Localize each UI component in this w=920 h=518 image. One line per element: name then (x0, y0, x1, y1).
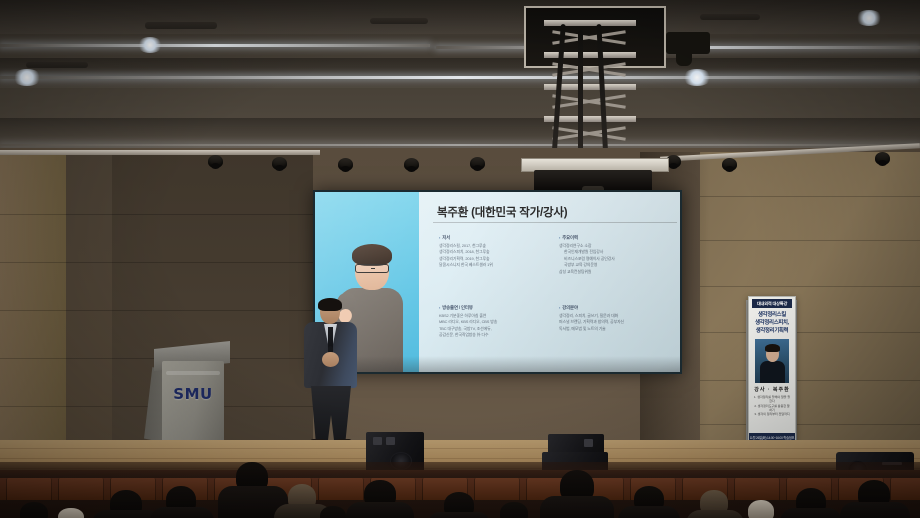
slide-section-media: 방송출연 / 인터뷰 KBS2 기분좋은 하루아침 출연 MBC 라디오, KB… (439, 304, 537, 339)
podium-logo: SMU (166, 385, 220, 403)
ceiling-light-glow (682, 69, 712, 86)
wall-column-left (0, 152, 66, 458)
spotlight (338, 158, 353, 171)
section-heading: 저서 (439, 234, 537, 241)
spotlight (470, 157, 485, 170)
section-body: 생각정리스킬, 2017, 천그루숲 생각정리스피치, 2018, 천그루숲 생… (439, 243, 537, 269)
audience-head (320, 506, 346, 518)
security-camera (875, 152, 890, 165)
audience-head (748, 500, 774, 518)
section-body: 생각정리, 스피치, 글쓰기, 질문과 대화 퍼스널 브랜딩, 기획력과 창의력… (559, 313, 657, 333)
spotlight (272, 157, 287, 170)
section-heading: 방송출연 / 인터뷰 (439, 304, 537, 311)
slide-title: 복주환 (대한민국 작가/강사) (437, 204, 675, 220)
seat (890, 478, 920, 500)
seat (58, 478, 104, 500)
audience-shoulders (840, 502, 910, 518)
spotlight (722, 158, 737, 171)
banner-speaker-photo (755, 339, 789, 383)
seat (474, 478, 520, 500)
audience-shoulders (618, 506, 680, 518)
seat (6, 478, 52, 500)
audience-shoulders (540, 496, 614, 518)
section-body: 생각정리연구소 소장 한국인재개발원 전임강사 비즈니스포럼 명예이사 공인강사… (559, 243, 657, 276)
event-x-banner: 대내외적 대상특강 생각정리스킬 생각정리스피치, 생각정리기획력 강사 · 복… (748, 296, 796, 456)
presenter (302, 300, 364, 452)
audience-shoulders (150, 507, 214, 518)
spotlight (404, 158, 419, 171)
podium: SMU (140, 345, 235, 455)
slide-section-career: 주요이력 생각정리연구소 소장 한국인재개발원 전임강사 비즈니스포럼 명예이사… (559, 234, 657, 275)
audience-head (20, 502, 48, 518)
ceiling-light-glow (137, 37, 163, 53)
seat (734, 478, 780, 500)
audience-head (500, 502, 528, 518)
projector-cable (578, 30, 583, 162)
projection-screen: 복주환 (대한민국 작가/강사) 저서 생각정리스킬, 2017, 천그루숲 생… (313, 190, 682, 374)
lighting-rail (0, 150, 320, 155)
audience-shoulders (686, 510, 744, 518)
slide-section-topics: 강의분야 생각정리, 스피치, 글쓰기, 질문과 대화 퍼스널 브랜딩, 기획력… (559, 304, 657, 332)
glasses-icon (355, 264, 389, 273)
presenter-hands (322, 352, 339, 367)
podium-groove (166, 371, 220, 375)
seat (318, 478, 364, 500)
audience-shoulders (346, 502, 414, 518)
banner-headline: 생각정리스킬 생각정리스피치, 생각정리기획력 (749, 311, 795, 335)
ceiling-equipment-mount (666, 32, 710, 54)
ceiling-equipment-mount (676, 52, 692, 66)
audience-shoulders (428, 512, 490, 518)
ceiling (0, 0, 920, 150)
banner-top-bar: 대내외적 대상특강 (752, 299, 792, 308)
section-heading: 강의분야 (559, 304, 657, 311)
audience-head (58, 508, 84, 518)
ceiling-light-glow (12, 69, 42, 86)
presenter-legs (311, 386, 351, 442)
slide-title-divider (433, 222, 677, 223)
presenter-hair (318, 298, 342, 311)
slide-surface: 복주환 (대한민국 작가/강사) 저서 생각정리스킬, 2017, 천그루숲 생… (315, 192, 680, 372)
section-heading: 주요이력 (559, 234, 657, 241)
section-body: KBS2 기분좋은 하루아침 출연 MBC 라디오, KBS 라디오, CBS … (439, 313, 537, 339)
audience-area (0, 462, 920, 518)
slide-section-books: 저서 생각정리스킬, 2017, 천그루숲 생각정리스피치, 2018, 천그루… (439, 234, 537, 269)
audience-shoulders (780, 508, 842, 518)
spotlight (208, 155, 223, 168)
wall-panel-right (700, 152, 920, 462)
ceiling-light-glow (855, 10, 883, 26)
banner-speaker-name: 강사 · 복주환 (749, 386, 795, 393)
banner-details: 1. 생각정리를 잘해야 말을 잘한다 2. 생각정리도구를 활용한 말하기 3… (753, 395, 791, 416)
auditorium-photo: 복주환 (대한민국 작가/강사) 저서 생각정리스킬, 2017, 천그루숲 생… (0, 0, 920, 518)
